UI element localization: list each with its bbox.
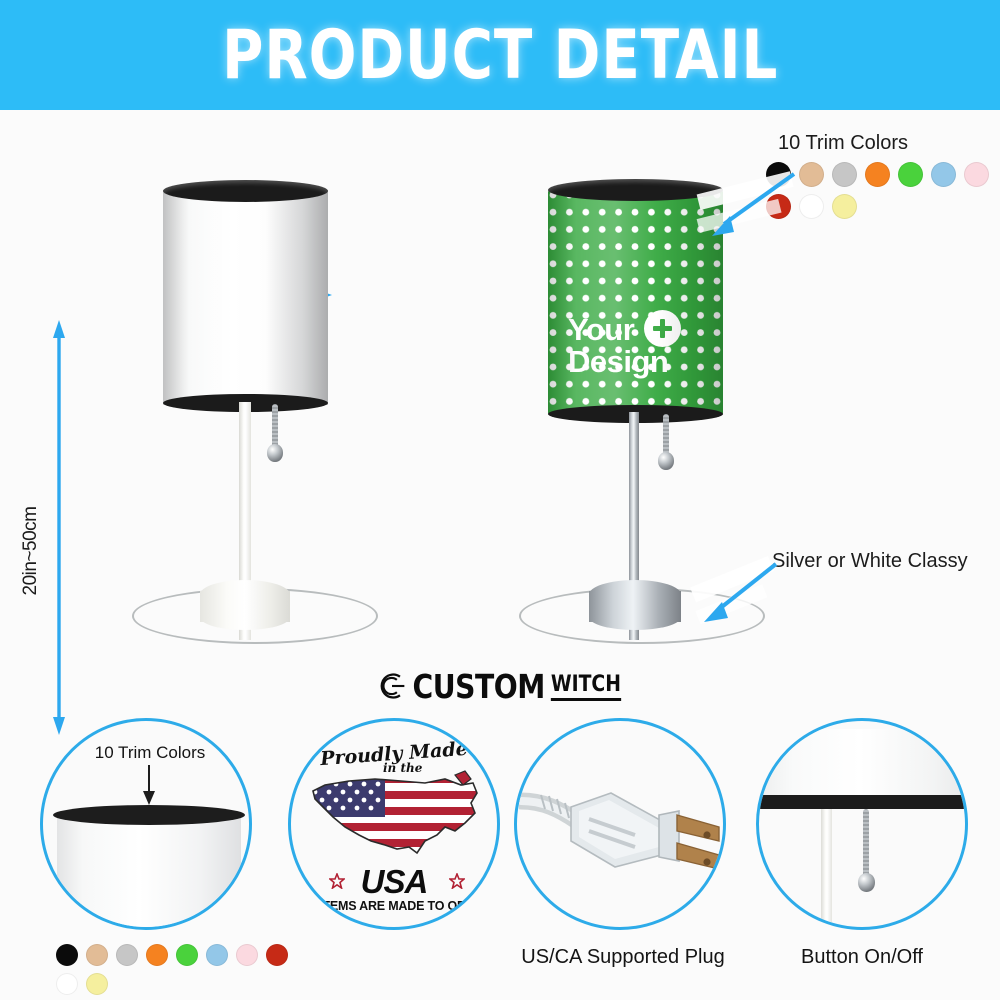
swatch-white[interactable]: [56, 973, 78, 995]
pull-chain-ball[interactable]: [267, 444, 283, 462]
height-dimension-label: 20in~50cm: [20, 456, 42, 646]
shade-bottom-trim: [756, 795, 968, 809]
c-circle-icon: [377, 671, 407, 701]
swatch-orange[interactable]: [146, 944, 168, 966]
pull-chain: [272, 404, 278, 448]
page-title: PRODUCT DETAIL: [222, 16, 778, 95]
lamp-base: [200, 580, 290, 630]
logo-sub-text: WITCH: [551, 672, 621, 701]
base-finish-callout-label: Silver or White Classy: [772, 550, 968, 573]
swatch-green[interactable]: [176, 944, 198, 966]
white-lampshade: [163, 190, 328, 405]
product-detail-page: PRODUCT DETAIL 7in~18cm 20in~50cm: [0, 0, 1000, 1000]
usa-flag-map-icon: [305, 769, 491, 867]
made-in-usa-feature: Proudly Made in the: [288, 718, 500, 930]
swatch-yellow[interactable]: [832, 194, 857, 219]
pull-chain: [663, 414, 669, 456]
mini-trim-colors-label: 10 Trim Colors: [65, 743, 235, 763]
star-icon-right: [449, 873, 465, 889]
usa-footer-text: ALL ITEMS ARE MADE TO ORDER!: [291, 899, 497, 913]
swatch-pink[interactable]: [236, 944, 258, 966]
add-design-plus-icon[interactable]: [644, 310, 681, 347]
page-header-banner: PRODUCT DETAIL: [0, 0, 1000, 110]
us-plug-icon: [519, 749, 725, 899]
white-lamp: [120, 190, 390, 650]
base-finish-pointer-arrow: [690, 548, 786, 640]
trim-colors-pointer-arrow: [694, 166, 806, 254]
swatch-gray[interactable]: [832, 162, 857, 187]
button-feature: [756, 718, 968, 930]
trim-colors-feature: 10 Trim Colors: [40, 718, 252, 930]
lamp-base: [589, 580, 681, 630]
swatch-orange[interactable]: [865, 162, 890, 187]
base-bottom-face: [589, 604, 681, 630]
lamp-pole: [821, 809, 832, 927]
swatch-gray[interactable]: [116, 944, 138, 966]
swatch-light-blue[interactable]: [931, 162, 956, 187]
plug-feature: [514, 718, 726, 930]
down-arrow-icon: [139, 765, 159, 805]
logo-main-text: CUSTOM: [412, 667, 544, 706]
shade-bottom-surface: [756, 729, 968, 799]
swatch-light-blue[interactable]: [206, 944, 228, 966]
swatch-green[interactable]: [898, 162, 923, 187]
design-placeholder-text: Your Design: [548, 314, 723, 378]
swatch-red[interactable]: [266, 944, 288, 966]
design-line-2: Design: [568, 346, 723, 378]
pull-chain-ball[interactable]: [658, 452, 674, 470]
star-icon-left: [329, 873, 345, 889]
shade-top-trim: [163, 180, 328, 202]
swatch-yellow[interactable]: [86, 973, 108, 995]
mini-shade-surface: [57, 813, 241, 930]
shade-surface: [163, 190, 328, 405]
pull-chain-ball[interactable]: [858, 873, 875, 892]
pull-chain[interactable]: [863, 809, 869, 877]
button-feature-caption: Button On/Off: [742, 946, 982, 969]
usa-big-text: USA: [291, 863, 497, 901]
swatch-pink[interactable]: [964, 162, 989, 187]
brand-logo: CUSTOM WITCH: [0, 662, 1000, 710]
swatch-tan[interactable]: [86, 944, 108, 966]
trim-colors-callout-label: 10 Trim Colors: [778, 132, 908, 155]
plug-feature-caption: US/CA Supported Plug: [498, 946, 748, 969]
mini-shade-trim: [53, 805, 245, 825]
bottom-trim-colors-swatch-panel[interactable]: [56, 944, 306, 1002]
base-bottom-face: [200, 604, 290, 630]
swatch-black[interactable]: [56, 944, 78, 966]
lamp-showcase: 7in~18cm 20in~50cm: [0, 110, 1000, 660]
